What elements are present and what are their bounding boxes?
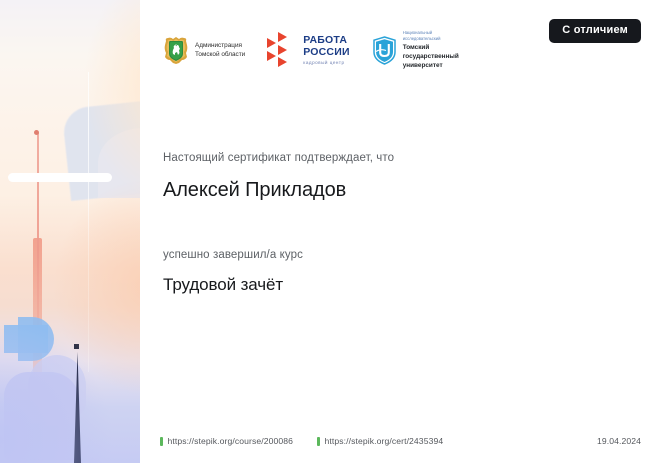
- thin-white-line: [88, 72, 89, 372]
- rabota-rossii-triangles-icon: [267, 36, 297, 64]
- course-link[interactable]: https://stepik.org/course/200086: [160, 436, 293, 446]
- partner-logos: Администрация Томской области РАБОТА РОС…: [163, 30, 459, 70]
- green-marker-icon: [160, 437, 163, 446]
- cert-link[interactable]: https://stepik.org/cert/2435394: [317, 436, 443, 446]
- course-title: Трудовой зачёт: [163, 275, 583, 295]
- recipient-name: Алексей Прикладов: [163, 179, 583, 202]
- tsu-main-line2: государственный: [403, 53, 459, 60]
- tsu-main-line1: Томский: [403, 44, 430, 51]
- cert-link-text: https://stepik.org/cert/2435394: [325, 436, 444, 446]
- tomsk-admin-text: Администрация Томской области: [195, 41, 245, 60]
- tsu-u-shield-icon: [372, 36, 397, 65]
- tsu-text: Национальный исследовательский Томский г…: [403, 30, 459, 70]
- certificate-footer: https://stepik.org/course/200086 https:/…: [160, 436, 641, 446]
- issue-date: 19.04.2024: [597, 436, 641, 446]
- logo-tomsk-administration: Администрация Томской области: [163, 35, 245, 65]
- lavender-blob: [4, 372, 80, 460]
- navy-square-dot: [74, 344, 79, 349]
- tsu-top-line1: Национальный: [403, 30, 432, 35]
- tsu-top-line2: исследовательский: [403, 36, 441, 41]
- course-statement: успешно завершил/а курс: [163, 249, 583, 261]
- tomsk-admin-line1: Администрация: [195, 42, 242, 49]
- logo-rabota-rossii: РАБОТА РОССИИ кадровый центр: [267, 35, 350, 65]
- certificate-page: С отличием Администрация Томской области: [0, 0, 655, 463]
- certificate-body: Настоящий сертификат подтверждает, что А…: [163, 152, 583, 295]
- lead-statement: Настоящий сертификат подтверждает, что: [163, 152, 583, 164]
- rabota-rossii-tagline: кадровый центр: [303, 60, 350, 65]
- rabota-rossii-line2: РОССИИ: [303, 46, 350, 58]
- tomsk-admin-line2: Томской области: [195, 51, 245, 58]
- pink-dot: [34, 130, 39, 135]
- blue-rect-shape: [4, 325, 48, 353]
- rabota-rossii-line1: РАБОТА: [303, 34, 347, 46]
- rabota-rossii-text: РАБОТА РОССИИ кадровый центр: [303, 35, 350, 65]
- logo-tsu: Национальный исследовательский Томский г…: [372, 30, 459, 70]
- status-badge: С отличием: [549, 19, 641, 43]
- green-marker-icon: [317, 437, 320, 446]
- pink-vertical-line: [37, 133, 39, 348]
- decorative-art-panel: [0, 0, 140, 463]
- course-link-text: https://stepik.org/course/200086: [168, 436, 294, 446]
- tomsk-coat-of-arms-icon: [163, 35, 189, 65]
- white-bar-shape: [8, 173, 112, 182]
- tsu-main-line3: университет: [403, 62, 443, 69]
